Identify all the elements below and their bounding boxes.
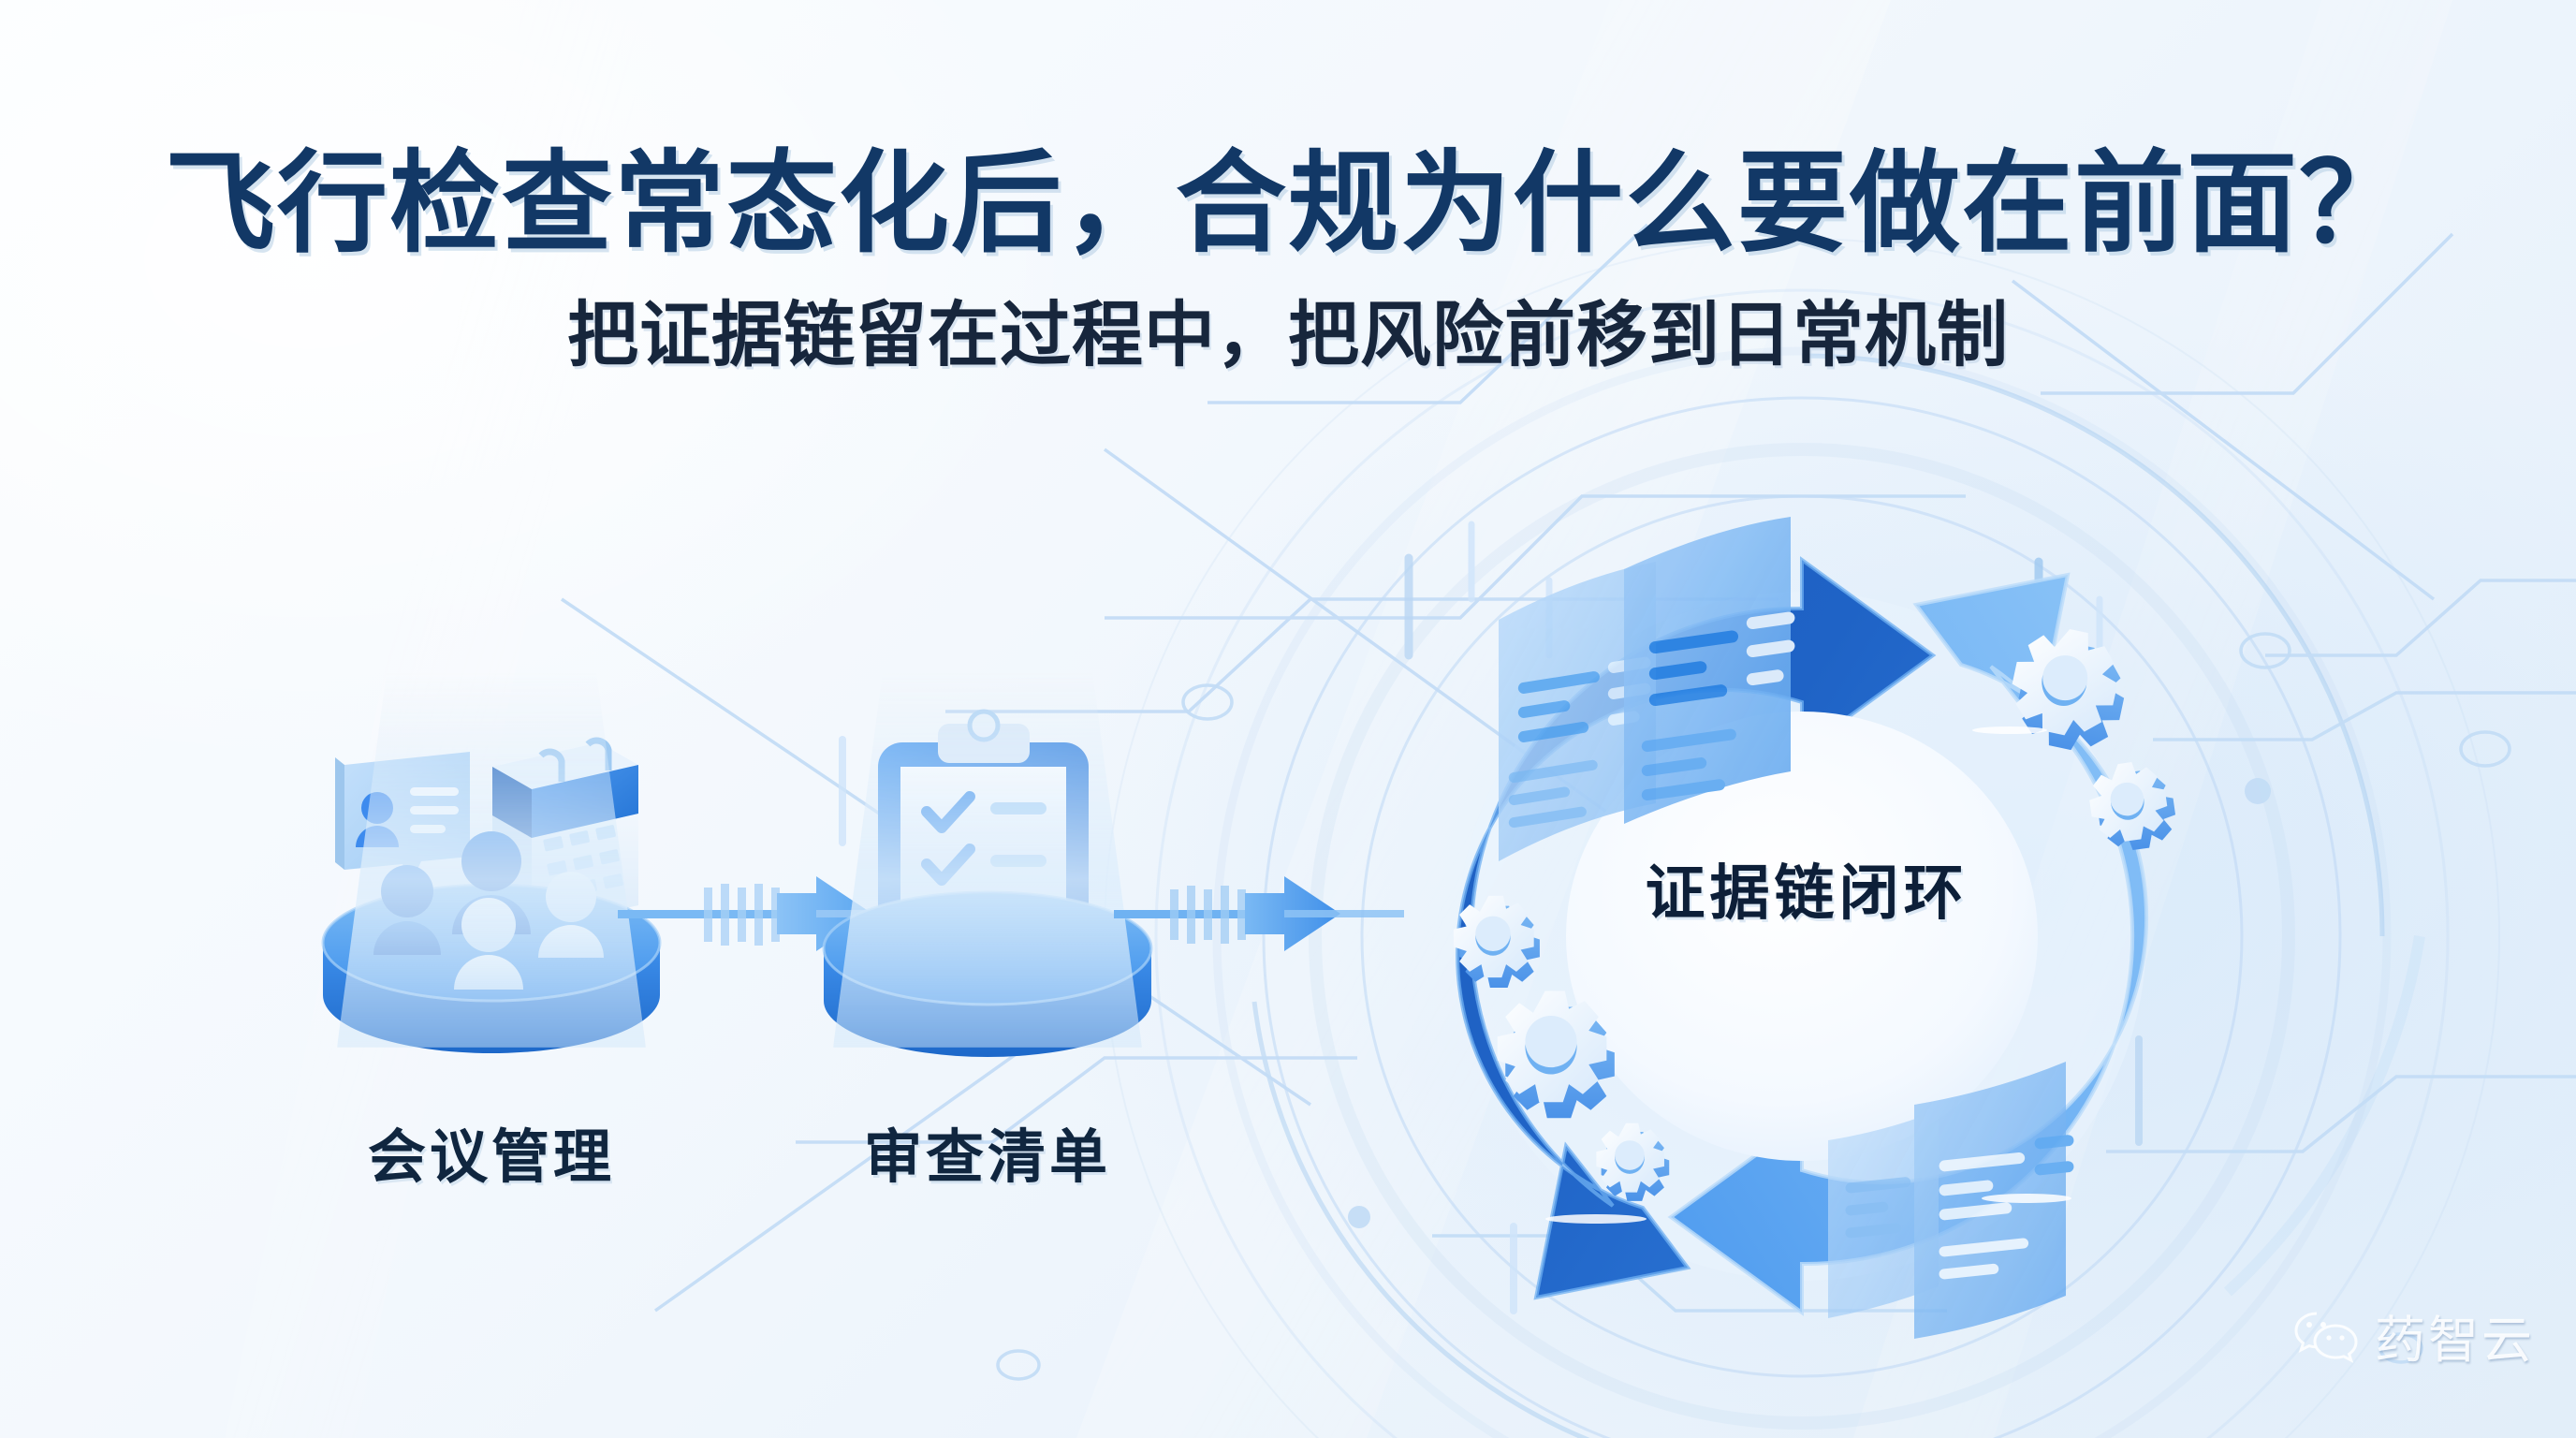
watermark: 药智云 [2294, 1299, 2535, 1372]
page-title: 飞行检查常态化后，合规为什么要做在前面？ [0, 140, 2576, 269]
cycle-center-label: 证据链闭环 [1591, 845, 2022, 932]
light-beam [337, 673, 646, 1048]
page-subtitle: 把证据链留在过程中，把风险前移到日常机制 [0, 293, 2576, 378]
light-beam [833, 673, 1142, 1048]
step-label: 审查清单 [786, 1109, 1189, 1194]
step-label: 会议管理 [290, 1109, 693, 1194]
wechat-icon [2294, 1309, 2358, 1363]
document-card-icon [1828, 1110, 1939, 1318]
headline-block: 飞行检查常态化后，合规为什么要做在前面？ 把证据链留在过程中，把风险前移到日常机… [0, 140, 2576, 378]
poster-canvas: 飞行检查常态化后，合规为什么要做在前面？ 把证据链留在过程中，把风险前移到日常机… [0, 0, 2576, 1438]
watermark-brand: 药智云 [2375, 1299, 2535, 1372]
evidence-chain-cycle[interactable] [1315, 449, 2289, 1423]
